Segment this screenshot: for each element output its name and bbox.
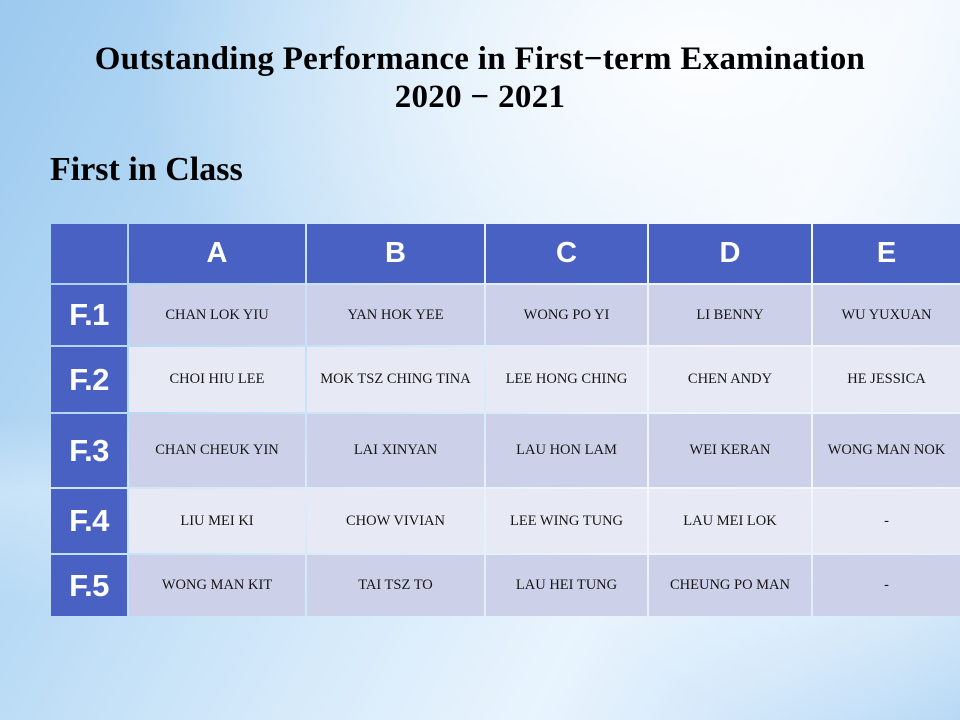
table-row: F.4 LIU MEI KI CHOW VIVIAN LEE WING TUNG… [51, 489, 960, 553]
column-header-a: A [129, 224, 305, 283]
first-in-class-table: A B C D E F.1 CHAN LOK YIU YAN HOK YEE W… [49, 222, 960, 618]
title-line-2: 2020 − 2021 [0, 78, 960, 116]
cell-f3-b: LAI XINYAN [307, 414, 484, 487]
cell-f2-b: MOK TSZ CHING TINA [307, 347, 484, 412]
cell-f3-a: CHAN CHEUK YIN [129, 414, 305, 487]
column-header-c: C [486, 224, 647, 283]
row-label-f4: F.4 [51, 489, 127, 553]
row-label-f3: F.3 [51, 414, 127, 487]
cell-f1-a: CHAN LOK YIU [129, 285, 305, 345]
cell-f3-e: WONG MAN NOK [813, 414, 960, 487]
row-label-f5: F.5 [51, 555, 127, 616]
column-header-b: B [307, 224, 484, 283]
cell-f1-b: YAN HOK YEE [307, 285, 484, 345]
column-header-d: D [649, 224, 811, 283]
cell-f4-e: - [813, 489, 960, 553]
cell-f5-c: LAU HEI TUNG [486, 555, 647, 616]
slide-canvas: Outstanding Performance in First−term Ex… [0, 0, 960, 720]
cell-f5-a: WONG MAN KIT [129, 555, 305, 616]
column-header-e: E [813, 224, 960, 283]
cell-f2-a: CHOI HIU LEE [129, 347, 305, 412]
cell-f5-b: TAI TSZ TO [307, 555, 484, 616]
table-corner-cell [51, 224, 127, 283]
cell-f2-e: HE JESSICA [813, 347, 960, 412]
table-row: F.5 WONG MAN KIT TAI TSZ TO LAU HEI TUNG… [51, 555, 960, 616]
cell-f2-d: CHEN ANDY [649, 347, 811, 412]
table-row: F.2 CHOI HIU LEE MOK TSZ CHING TINA LEE … [51, 347, 960, 412]
cell-f1-c: WONG PO YI [486, 285, 647, 345]
cell-f5-d: CHEUNG PO MAN [649, 555, 811, 616]
cell-f4-b: CHOW VIVIAN [307, 489, 484, 553]
cell-f4-a: LIU MEI KI [129, 489, 305, 553]
cell-f4-d: LAU MEI LOK [649, 489, 811, 553]
row-label-f1: F.1 [51, 285, 127, 345]
table-row: F.3 CHAN CHEUK YIN LAI XINYAN LAU HON LA… [51, 414, 960, 487]
table-row: F.1 CHAN LOK YIU YAN HOK YEE WONG PO YI … [51, 285, 960, 345]
cell-f3-d: WEI KERAN [649, 414, 811, 487]
table-header-row: A B C D E [51, 224, 960, 283]
cell-f4-c: LEE WING TUNG [486, 489, 647, 553]
title-line-1: Outstanding Performance in First−term Ex… [0, 40, 960, 78]
cell-f1-e: WU YUXUAN [813, 285, 960, 345]
section-heading: First in Class [50, 150, 243, 190]
slide-title: Outstanding Performance in First−term Ex… [0, 40, 960, 116]
cell-f5-e: - [813, 555, 960, 616]
cell-f2-c: LEE HONG CHING [486, 347, 647, 412]
row-label-f2: F.2 [51, 347, 127, 412]
cell-f1-d: LI BENNY [649, 285, 811, 345]
cell-f3-c: LAU HON LAM [486, 414, 647, 487]
